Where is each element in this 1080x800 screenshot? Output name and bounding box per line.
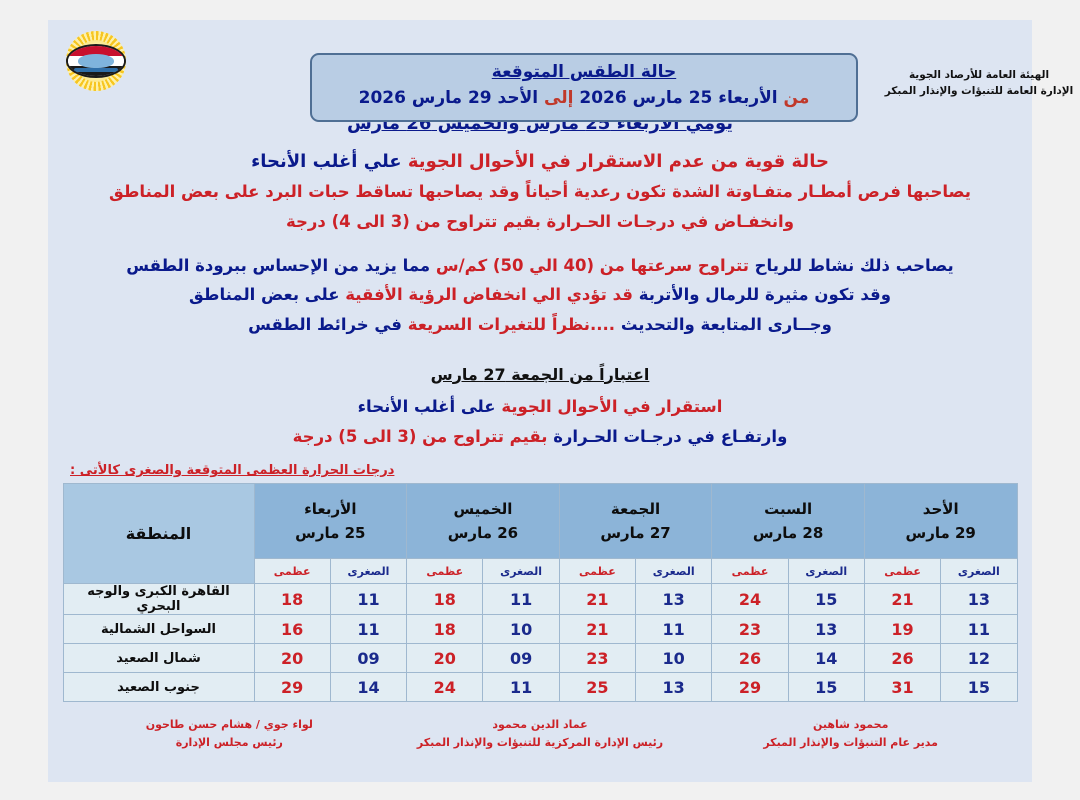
body-line-8-red: بقيم تتراوح من (3 الى 5) درجة [293,427,548,446]
body-line-4-red: تتراوح سرعتها من (40 الي 50) كم/س [436,256,749,275]
min-label-3: الصغرى [483,559,559,584]
day-date-4: 25 مارس [257,521,405,545]
cell-min-3-3: 11 [483,673,559,702]
body-line-7-red: استقرار في الأحوال الجوية [501,397,722,416]
max-label-0: عظمى [864,559,940,584]
body-line-3: وانخفـاض في درجـات الحـرارة بقيم تتراوح … [70,210,1010,235]
ema-logo [50,30,142,92]
day-date-2: 27 مارس [562,521,710,545]
table-body: 13 21 15 24 13 21 11 18 11 18 القاهرة ال… [63,584,1017,702]
range-end: الأحد 29 مارس 2026 [359,88,538,108]
body-line-6-blue-start: وجــارى المتابعة والتحديث [621,315,832,334]
organization-name: الهيئة العامة للأرصاد الجوية الإدارة الع… [884,68,1074,100]
range-start: الأربعاء 25 مارس 2026 [579,88,777,108]
cell-max-0-2: 21 [559,584,635,615]
table-row: 12 26 14 26 10 23 09 20 09 20 شمال الصعي… [63,644,1017,673]
min-label-2: الصغرى [636,559,712,584]
signature-block-1: عماد الدين محمود رئيس الإدارة المركزية ل… [385,716,696,751]
cell-max-3-2: 25 [559,673,635,702]
cell-max-0-3: 18 [407,584,483,615]
region-name-2: شمال الصعيد [63,644,254,673]
day-name-1: السبت [714,497,862,521]
cell-min-2-3: 09 [483,644,559,673]
signatory-title-2: رئيس مجلس الإدارة [74,734,385,752]
body-line-4-blue-start: يصاحب ذلك نشاط للرياح [755,256,954,275]
day-name-0: الأحد [867,497,1015,521]
cell-min-2-1: 14 [788,644,864,673]
body-line-1-blue: علي أغلب الأنحاء [251,151,402,172]
day-header-4: الأربعاء 25 مارس [254,484,407,559]
body-line-6-red: ....نظراً للتغيرات السريعة [408,315,615,334]
signatory-name-1: عماد الدين محمود [385,716,696,734]
day-date-1: 28 مارس [714,521,862,545]
cell-max-3-0: 31 [864,673,940,702]
cell-min-3-2: 13 [636,673,712,702]
cell-max-2-2: 23 [559,644,635,673]
max-label-1: عظمى [712,559,788,584]
day-name-4: الأربعاء [257,497,405,521]
body-line-5-blue-end: على بعض المناطق [189,285,339,304]
forecast-bulletin: حالة الطقس المتوقعة من الأربعاء 25 مارس … [48,20,1032,782]
table-row: 11 19 13 23 11 21 10 18 11 16 السواحل ال… [63,615,1017,644]
cell-max-3-1: 29 [712,673,788,702]
cell-min-0-0: 13 [941,584,1017,615]
cell-min-0-1: 15 [788,584,864,615]
body-line-8: وارتفـاع في درجـات الحـرارة بقيم تتراوح … [70,425,1010,450]
body-line-1: حالة قوية من عدم الاستقرار في الأحوال ال… [70,148,1010,175]
bulletin-date-range: من الأربعاء 25 مارس 2026 إلى الأحد 29 ما… [322,86,846,111]
body-line-7-blue: على أغلب الأنحاء [358,397,496,416]
signatory-name-2: لواء جوي / هشام حسن طاحون [74,716,385,734]
cell-max-2-3: 20 [407,644,483,673]
body-line-2: يصاحبها فرص أمطـار متفـاوتة الشدة تكون ر… [70,180,1010,205]
body-line-5-blue-start: وقد تكون مثيرة للرمال والأتربة [639,285,891,304]
cell-min-3-1: 15 [788,673,864,702]
table-row: 15 31 15 29 13 25 11 24 14 29 جنوب الصعي… [63,673,1017,702]
table-row: 13 21 15 24 13 21 11 18 11 18 القاهرة ال… [63,584,1017,615]
signatory-title-0: مدير عام التنبؤات والإنذار المبكر [695,734,1006,752]
cell-min-0-3: 11 [483,584,559,615]
cell-max-1-1: 23 [712,615,788,644]
temperature-table-caption-text: درجات الحرارة العظمى المتوقعة والصغرى كا… [70,463,394,478]
max-label-2: عظمى [559,559,635,584]
organization-line-1: الهيئة العامة للأرصاد الجوية [884,68,1074,84]
body-line-4-blue-end: مما يزيد من الإحساس ببرودة الطقس [126,256,430,275]
cell-min-3-4: 14 [330,673,406,702]
max-label-4: عظمى [254,559,330,584]
body-line-6: وجــارى المتابعة والتحديث ....نظراً للتغ… [70,313,1010,338]
cell-min-2-2: 10 [636,644,712,673]
signatory-title-1: رئيس الإدارة المركزية للتنبؤات والإنذار … [385,734,696,752]
signature-block-2: لواء جوي / هشام حسن طاحون رئيس مجلس الإد… [74,716,385,751]
day-header-1: السبت 28 مارس [712,484,865,559]
cell-max-1-2: 21 [559,615,635,644]
bulletin-body: يومي الأربعاء 25 مارس والخميس 26 مارس حا… [48,110,1032,449]
cell-max-2-1: 26 [712,644,788,673]
body-line-7: استقرار في الأحوال الجوية على أغلب الأنح… [70,395,1010,420]
body-line-1-red: حالة قوية من عدم الاستقرار في الأحوال ال… [408,151,829,172]
max-label-3: عظمى [407,559,483,584]
cell-max-1-0: 19 [864,615,940,644]
cell-max-0-0: 21 [864,584,940,615]
cell-min-1-0: 11 [941,615,1017,644]
cell-min-2-4: 09 [330,644,406,673]
cell-max-0-4: 18 [254,584,330,615]
title-box: حالة الطقس المتوقعة من الأربعاء 25 مارس … [310,53,858,122]
cell-min-1-1: 13 [788,615,864,644]
cell-min-0-4: 11 [330,584,406,615]
day-header-0: الأحد 29 مارس [864,484,1017,559]
cell-max-1-3: 18 [407,615,483,644]
cell-max-1-4: 16 [254,615,330,644]
flag-emblem-icon [66,44,126,78]
region-name-1: السواحل الشمالية [63,615,254,644]
min-label-0: الصغرى [941,559,1017,584]
temperature-table-caption: درجات الحرارة العظمى المتوقعة والصغرى كا… [48,459,1032,478]
cell-min-1-4: 11 [330,615,406,644]
day-name-2: الجمعة [562,497,710,521]
region-name-0: القاهرة الكبرى والوجه البحري [63,584,254,615]
table-header-days: الأحد 29 مارس السبت 28 مارس الجمعة 27 ما… [63,484,1017,559]
bulletin-header: حالة الطقس المتوقعة من الأربعاء 25 مارس … [48,20,1032,104]
cell-min-1-2: 11 [636,615,712,644]
cell-min-1-3: 10 [483,615,559,644]
region-column-header: المنطقة [63,484,254,584]
cell-max-2-0: 26 [864,644,940,673]
range-mid: إلى [544,88,573,108]
day-header-3: الخميس 26 مارس [407,484,560,559]
signature-block-0: محمود شاهين مدير عام التنبؤات والإنذار ا… [695,716,1006,751]
body-line-6-blue-end: في خرائط الطقس [248,315,402,334]
cell-min-0-2: 13 [636,584,712,615]
range-prefix: من [784,88,810,108]
min-label-1: الصغرى [788,559,864,584]
body-line-4: يصاحب ذلك نشاط للرياح تتراوح سرعتها من (… [70,254,1010,279]
day-header-2: الجمعة 27 مارس [559,484,712,559]
bulletin-title: حالة الطقس المتوقعة [322,61,846,84]
section-2-heading: اعتباراً من الجمعة 27 مارس [70,363,1010,387]
day-name-3: الخميس [409,497,557,521]
body-line-5-red: قد تؤدي الي انخفاض الرؤية الأفقية [345,285,633,304]
body-line-8-blue: وارتفـاع في درجـات الحـرارة [553,427,787,446]
temperature-table: الأحد 29 مارس السبت 28 مارس الجمعة 27 ما… [63,483,1018,702]
body-line-5: وقد تكون مثيرة للرمال والأتربة قد تؤدي ا… [70,283,1010,308]
min-label-4: الصغرى [330,559,406,584]
organization-line-2: الإدارة العامة للتنبؤات والإنذار المبكر [884,84,1074,100]
day-date-0: 29 مارس [867,521,1015,545]
cell-max-2-4: 20 [254,644,330,673]
cell-max-0-1: 24 [712,584,788,615]
day-date-3: 26 مارس [409,521,557,545]
cell-min-3-0: 15 [941,673,1017,702]
bulletin-footer: محمود شاهين مدير عام التنبؤات والإنذار ا… [48,702,1032,751]
cell-max-3-3: 24 [407,673,483,702]
cell-min-2-0: 12 [941,644,1017,673]
region-name-3: جنوب الصعيد [63,673,254,702]
cell-max-3-4: 29 [254,673,330,702]
signatory-name-0: محمود شاهين [695,716,1006,734]
